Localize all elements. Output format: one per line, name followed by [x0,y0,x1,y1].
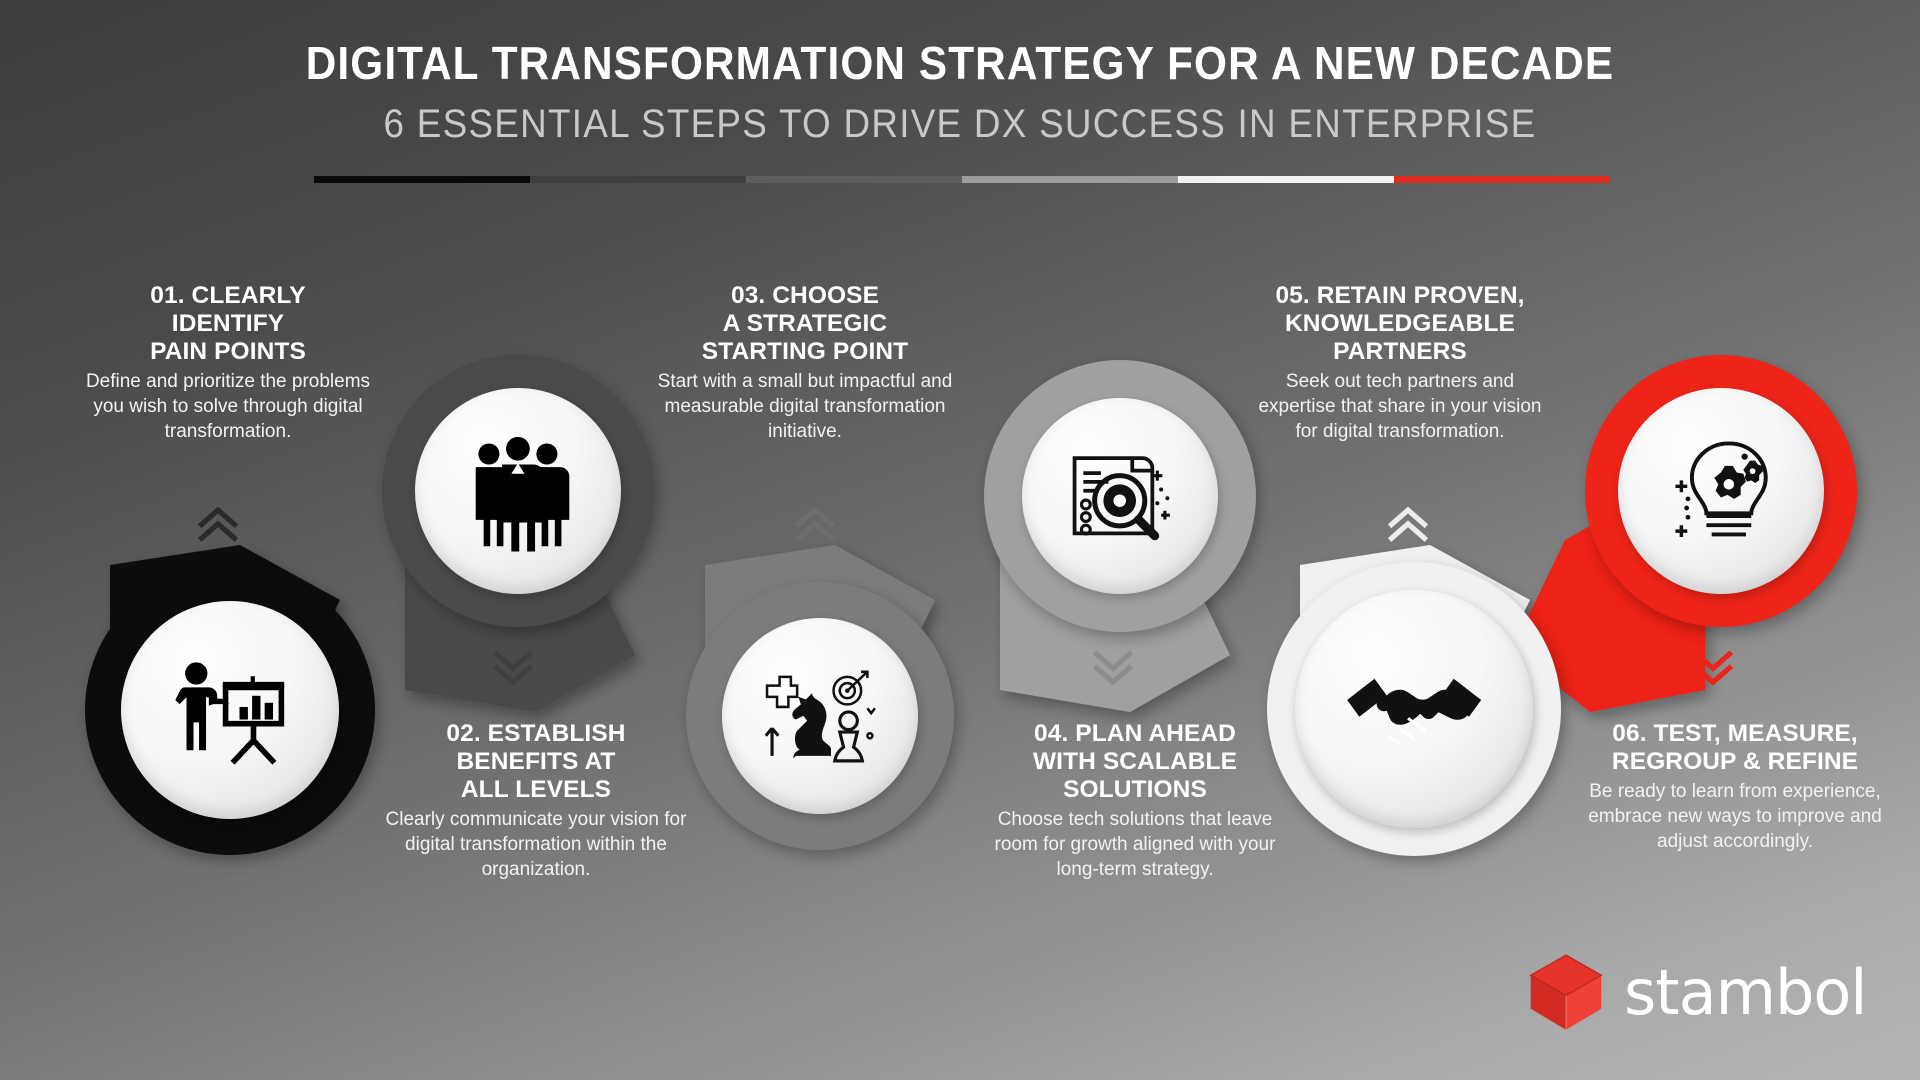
step-6-title-line-2: REGROUP & REFINE [1580,748,1890,776]
step-5-title-line-2: KNOWLEDGEABLE [1250,310,1550,338]
step-5-inner-circle [1295,590,1533,828]
step-6-inner-circle [1618,388,1824,594]
step-1-text: 01. CLEARLY IDENTIFY PAIN POINTS Define … [78,282,378,444]
step-node-4[interactable] [1022,398,1218,594]
step-4-text: 04. PLAN AHEAD WITH SCALABLE SOLUTIONS C… [990,720,1280,882]
step-1-title-line-1: 01. CLEARLY [78,282,378,310]
step-5-body: Seek out tech partners and expertise tha… [1250,369,1550,444]
step-node-1[interactable] [85,565,375,855]
step-4-title-line-2: WITH SCALABLE [990,748,1280,776]
lightbulb-gears-icon [1655,425,1787,557]
step-5-title-line-3: PARTNERS [1250,338,1550,366]
handshake-icon [1338,633,1490,785]
step-node-6[interactable] [1585,355,1857,627]
chevron-down-step4 [1090,645,1136,685]
step-2-title-line-1: 02. ESTABLISH [380,720,692,748]
step-6-title-line-1: 06. TEST, MEASURE, [1580,720,1890,748]
step-4-title-line-1: 04. PLAN AHEAD [990,720,1280,748]
chevron-up-step5 [1385,505,1431,545]
step-1-title-line-2: IDENTIFY [78,310,378,338]
process-chain: 01. CLEARLY IDENTIFY PAIN POINTS Define … [0,0,1920,1080]
step-2-title-line-3: ALL LEVELS [380,776,692,804]
step-3-title-line-2: A STRATEGIC [655,310,955,338]
chevron-up-step3 [792,505,838,545]
step-6-body: Be ready to learn from experience, embra… [1580,779,1890,854]
step-3-title-line-3: STARTING POINT [655,338,955,366]
step-4-body: Choose tech solutions that leave room fo… [990,807,1280,882]
step-2-inner-circle [415,388,621,594]
step-3-title-line-1: 03. CHOOSE [655,282,955,310]
step-3-body: Start with a small but impactful and mea… [655,369,955,444]
step-3-text: 03. CHOOSE A STRATEGIC STARTING POINT St… [655,282,955,444]
step-5-text: 05. RETAIN PROVEN, KNOWLEDGEABLE PARTNER… [1250,282,1550,444]
step-2-title-line-2: BENEFITS AT [380,748,692,776]
chess-strategy-target-icon [757,653,882,778]
team-people-icon [452,425,584,557]
stambol-wordmark: stambol [1624,956,1867,1029]
step-4-inner-circle [1022,398,1218,594]
step-4-title-line-3: SOLUTIONS [990,776,1280,804]
step-2-body: Clearly communicate your vision for digi… [380,807,692,882]
presenter-chart-icon [160,640,300,780]
step-1-inner-circle [121,601,339,819]
step-node-2[interactable] [382,355,654,627]
step-1-title-line-3: PAIN POINTS [78,338,378,366]
chevron-up-step1 [195,505,241,545]
step-node-5[interactable] [1295,590,1533,828]
document-magnifier-icon [1057,433,1182,558]
step-6-text: 06. TEST, MEASURE, REGROUP & REFINE Be r… [1580,720,1890,854]
step-1-body: Define and prioritize the problems you w… [78,369,378,444]
step-3-inner-circle [722,618,918,814]
chevron-down-step2 [490,645,536,685]
chevron-down-step6 [1690,645,1736,685]
stambol-logo[interactable]: stambol [1524,950,1867,1034]
step-5-title-line-1: 05. RETAIN PROVEN, [1250,282,1550,310]
stambol-cube-icon [1524,950,1608,1034]
step-node-3[interactable] [722,618,918,814]
step-2-text: 02. ESTABLISH BENEFITS AT ALL LEVELS Cle… [380,720,692,882]
